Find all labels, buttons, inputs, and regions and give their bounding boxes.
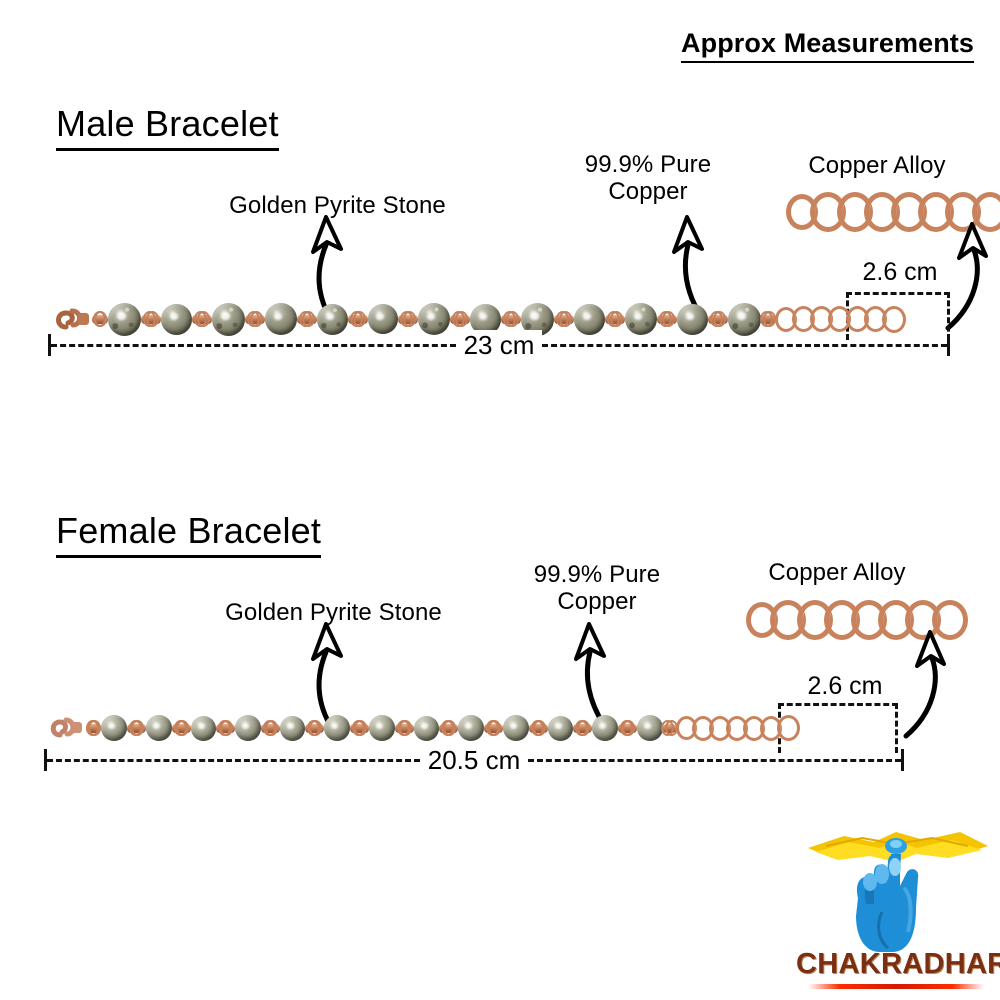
female-total-length-label: 20.5 cm — [420, 745, 529, 776]
measure-dash-right — [528, 759, 901, 762]
male-callout-copper-alloy: Copper Alloy — [780, 153, 974, 180]
female-callout-pure-copper: 99.9% Pure Copper — [512, 562, 682, 616]
measure-tick-right — [901, 749, 904, 771]
measure-dash-left — [51, 344, 456, 347]
infographic-canvas: Approx Measurements Male Bracelet Golden… — [0, 0, 1000, 1000]
measure-tick-right — [947, 334, 950, 356]
female-extension-length-label: 2.6 cm — [790, 672, 900, 701]
blue-hand-icon — [856, 854, 918, 952]
male-extension-chain — [775, 306, 906, 333]
female-total-length-measure: 20.5 cm — [44, 745, 904, 775]
male-callout-pure-copper: 99.9% Pure Copper — [563, 152, 733, 206]
female-callout-copper-alloy: Copper Alloy — [740, 560, 934, 587]
approx-measurements-heading: Approx Measurements — [681, 28, 974, 63]
brand-logo: CHAKRADHARI — [796, 812, 996, 997]
male-total-length-label: 23 cm — [456, 330, 543, 361]
male-extension-length-label: 2.6 cm — [845, 258, 955, 287]
female-clasp-hook — [46, 709, 86, 747]
measure-dash-left — [47, 759, 420, 762]
brand-name: CHAKRADHARI — [796, 948, 996, 981]
female-extension-chain — [676, 715, 800, 741]
female-bracelet-graphic — [46, 708, 800, 748]
brand-underline — [808, 984, 984, 989]
female-bracelet-title: Female Bracelet — [56, 510, 321, 558]
male-bracelet-title: Male Bracelet — [56, 103, 279, 151]
male-total-length-measure: 23 cm — [48, 330, 950, 360]
measure-dash-right — [542, 344, 947, 347]
